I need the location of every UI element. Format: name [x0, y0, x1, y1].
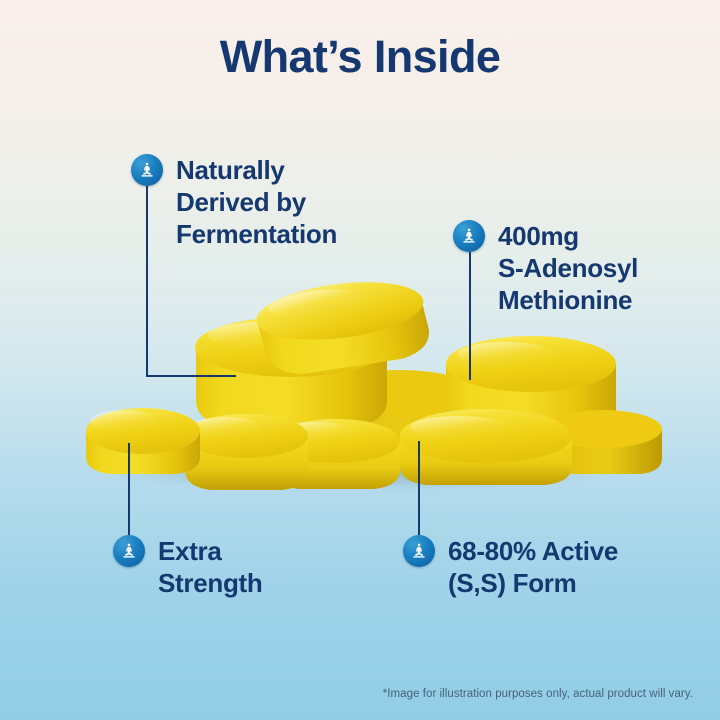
callout-active-form[interactable]: 68-80% Active (S,S) Form	[403, 535, 618, 600]
meditating-person-icon	[131, 154, 163, 186]
meditating-person-icon	[113, 535, 145, 567]
callout-naturally-derived[interactable]: Naturally Derived by Fermentation	[131, 154, 337, 251]
callout-label-extra-strength: Extra Strength	[158, 535, 262, 600]
callout-extra-strength[interactable]: Extra Strength	[113, 535, 262, 600]
product-image-tablets	[0, 0, 720, 720]
meditating-person-icon	[403, 535, 435, 567]
disclaimer-footnote: *Image for illustration purposes only, a…	[383, 688, 693, 700]
connector-line-naturally-derived-horizontal	[146, 375, 236, 377]
meditating-person-icon	[453, 220, 485, 252]
callout-label-active-form: 68-80% Active (S,S) Form	[448, 535, 618, 600]
connector-line-extra-strength	[128, 443, 130, 535]
connector-line-active-form	[418, 441, 420, 535]
callout-label-dosage: 400mg S-Adenosyl Methionine	[498, 220, 638, 317]
callout-dosage[interactable]: 400mg S-Adenosyl Methionine	[453, 220, 638, 317]
page-title: What’s Inside	[0, 32, 720, 82]
callout-label-naturally-derived: Naturally Derived by Fermentation	[176, 154, 337, 251]
infographic-canvas: What’s Inside	[0, 0, 720, 720]
